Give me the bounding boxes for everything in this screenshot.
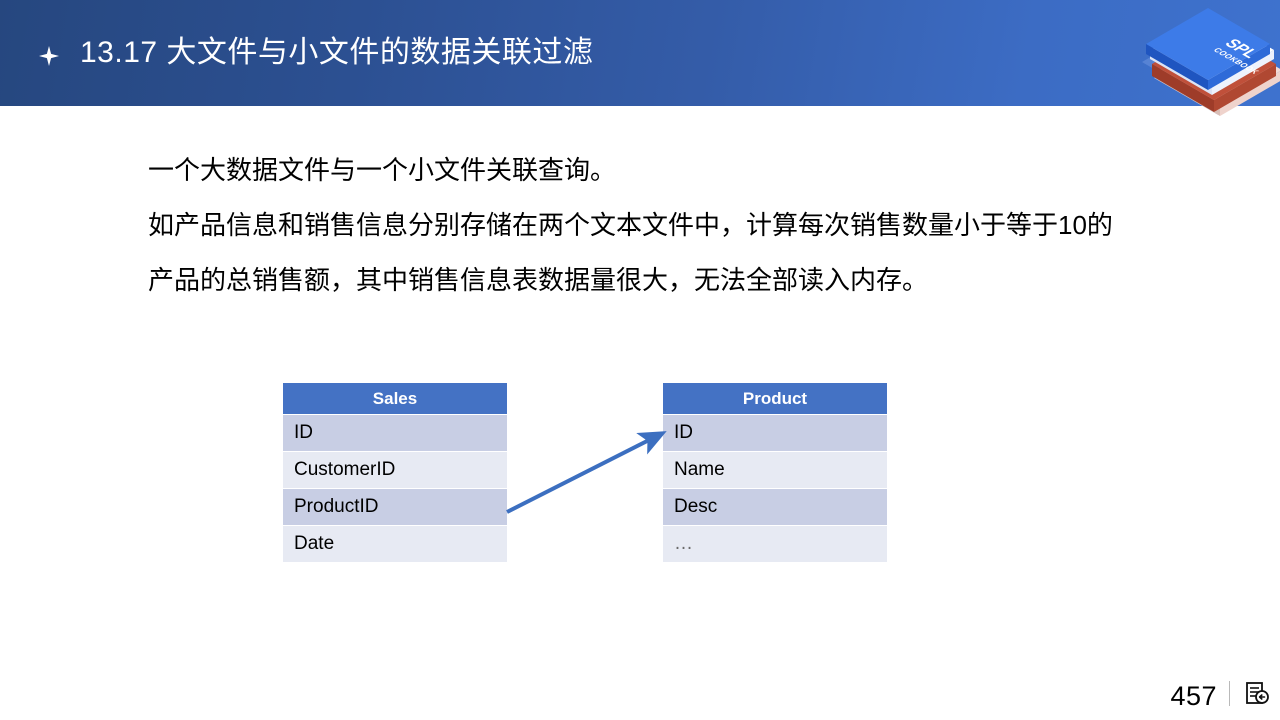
body-text: 一个大数据文件与一个小文件关联查询。 如产品信息和销售信息分别存储在两个文本文件…: [148, 143, 1128, 308]
product-field-desc: Desc: [663, 489, 887, 525]
product-field-id: ID: [663, 415, 887, 451]
sales-field-date: Date: [283, 526, 507, 562]
product-table: Product ID Name Desc …: [663, 383, 887, 562]
page-number: 457: [1170, 681, 1217, 712]
sales-productid-to-product-id-arrow: [495, 415, 680, 530]
four-point-star-icon: [38, 45, 60, 67]
body-paragraph-1: 一个大数据文件与一个小文件关联查询。: [148, 143, 1128, 198]
page-title: 13.17 大文件与小文件的数据关联过滤: [80, 30, 593, 76]
slide-header: 13.17 大文件与小文件的数据关联过滤: [0, 0, 1280, 106]
product-table-header: Product: [663, 383, 887, 414]
product-field-ellipsis: …: [663, 526, 887, 562]
body-paragraph-2: 如产品信息和销售信息分别存储在两个文本文件中，计算每次销售数量小于等于10的产品…: [148, 198, 1128, 308]
footer-divider: [1229, 681, 1230, 706]
sales-field-customerid: CustomerID: [283, 452, 507, 488]
product-field-name: Name: [663, 452, 887, 488]
sales-table-header: Sales: [283, 383, 507, 414]
sales-table: Sales ID CustomerID ProductID Date: [283, 383, 507, 562]
sales-field-id: ID: [283, 415, 507, 451]
document-back-icon[interactable]: [1242, 679, 1272, 709]
sales-field-productid: ProductID: [283, 489, 507, 525]
